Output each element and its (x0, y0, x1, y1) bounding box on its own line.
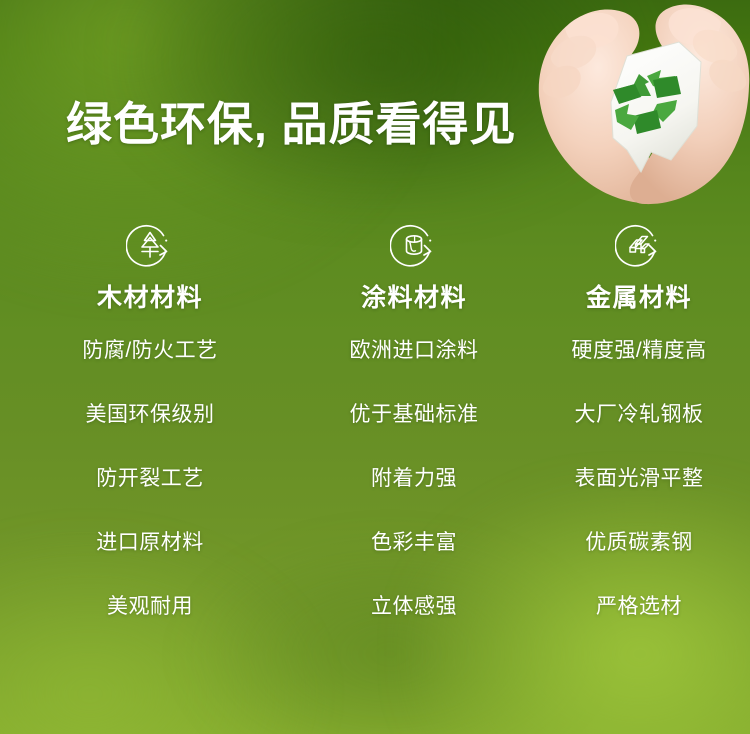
feature-item: 美国环保级别 (0, 402, 300, 428)
feature-item: 防腐/防火工艺 (0, 338, 300, 364)
feature-item: 立体感强 (300, 594, 528, 620)
feature-list: 防腐/防火工艺 美国环保级别 防开裂工艺 进口原材料 美观耐用 (0, 338, 300, 620)
promo-banner: 绿色环保, 品质看得见 木材材料 防腐/防火工艺 美国环保级别 防开裂工 (0, 0, 750, 734)
feature-column-paint: 涂料材料 欧洲进口涂料 优于基础标准 附着力强 色彩丰富 立体感强 (300, 218, 528, 620)
feature-list: 硬度强/精度高 大厂冷轧钢板 表面光滑平整 优质碳素钢 严格选材 (528, 338, 750, 620)
page-title: 绿色环保, 品质看得见 (66, 96, 517, 152)
tree-recycle-icon (123, 218, 177, 272)
feature-column-title: 涂料材料 (361, 282, 467, 314)
feature-item: 大厂冷轧钢板 (528, 402, 750, 428)
feature-column-wood: 木材材料 防腐/防火工艺 美国环保级别 防开裂工艺 进口原材料 美观耐用 (0, 218, 300, 620)
feature-column-metal: 金属材料 硬度强/精度高 大厂冷轧钢板 表面光滑平整 优质碳素钢 严格选材 (528, 218, 750, 620)
feature-item: 色彩丰富 (300, 530, 528, 556)
feature-column-title: 金属材料 (586, 282, 692, 314)
feature-columns: 木材材料 防腐/防火工艺 美国环保级别 防开裂工艺 进口原材料 美观耐用 (0, 218, 750, 620)
feature-item: 严格选材 (528, 594, 750, 620)
metal-ingots-recycle-icon (612, 218, 666, 272)
feature-list: 欧洲进口涂料 优于基础标准 附着力强 色彩丰富 立体感强 (300, 338, 528, 620)
feature-item: 优于基础标准 (300, 402, 528, 428)
feature-item: 优质碳素钢 (528, 530, 750, 556)
feature-item: 美观耐用 (0, 594, 300, 620)
hands-recycle-photo (535, 0, 750, 205)
feature-column-title: 木材材料 (97, 282, 203, 314)
feature-item: 硬度强/精度高 (528, 338, 750, 364)
feature-item: 欧洲进口涂料 (300, 338, 528, 364)
feature-item: 进口原材料 (0, 530, 300, 556)
paint-bucket-recycle-icon (387, 218, 441, 272)
feature-item: 防开裂工艺 (0, 466, 300, 492)
feature-item: 表面光滑平整 (528, 466, 750, 492)
feature-item: 附着力强 (300, 466, 528, 492)
